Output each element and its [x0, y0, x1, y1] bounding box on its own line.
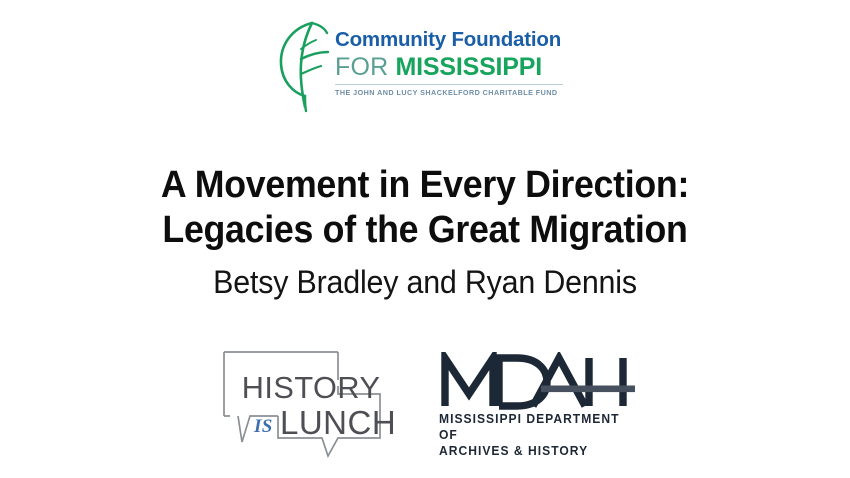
leaf-icon — [276, 19, 332, 113]
community-foundation-wordmark: Community Foundation FOR MISSISSIPPI THE… — [335, 18, 563, 97]
mdah-sub-line-1: MISSISSIPPI DEPARTMENT OF — [439, 412, 639, 444]
title-block: A Movement in Every Direction: Legacies … — [0, 163, 850, 301]
bottom-logo-row: HISTORY IS LUNCH — [0, 344, 850, 464]
presenter-names: Betsy Bradley and Ryan Dennis — [21, 264, 829, 301]
svg-text:LUNCH: LUNCH — [280, 404, 396, 441]
community-foundation-logo: Community Foundation FOR MISSISSIPPI THE… — [276, 18, 566, 114]
cf-line-for-mississippi: FOR MISSISSIPPI — [335, 55, 542, 80]
title-line-1: A Movement in Every Direction: — [26, 163, 825, 208]
mdah-logo: MISSISSIPPI DEPARTMENT OF ARCHIVES & HIS… — [437, 352, 647, 452]
mdah-sub-line-2: ARCHIVES & HISTORY — [439, 444, 639, 460]
mdah-subtitle: MISSISSIPPI DEPARTMENT OF ARCHIVES & HIS… — [439, 412, 639, 460]
svg-text:IS: IS — [253, 416, 273, 437]
history-is-lunch-logo: HISTORY IS LUNCH — [216, 346, 396, 458]
title-slide: Community Foundation FOR MISSISSIPPI THE… — [0, 0, 850, 478]
svg-text:HISTORY: HISTORY — [242, 370, 381, 405]
cf-tagline: THE JOHN AND LUCY SHACKELFORD CHARITABLE… — [335, 88, 558, 97]
page-title: A Movement in Every Direction: Legacies … — [26, 163, 825, 253]
mdah-wordmark — [437, 352, 637, 410]
cf-word-for: FOR — [335, 53, 388, 81]
cf-divider — [335, 84, 563, 85]
title-line-2: Legacies of the Great Migration — [26, 208, 825, 253]
cf-line-community-foundation: Community Foundation — [335, 30, 561, 51]
cf-word-mississippi: MISSISSIPPI — [396, 53, 542, 81]
